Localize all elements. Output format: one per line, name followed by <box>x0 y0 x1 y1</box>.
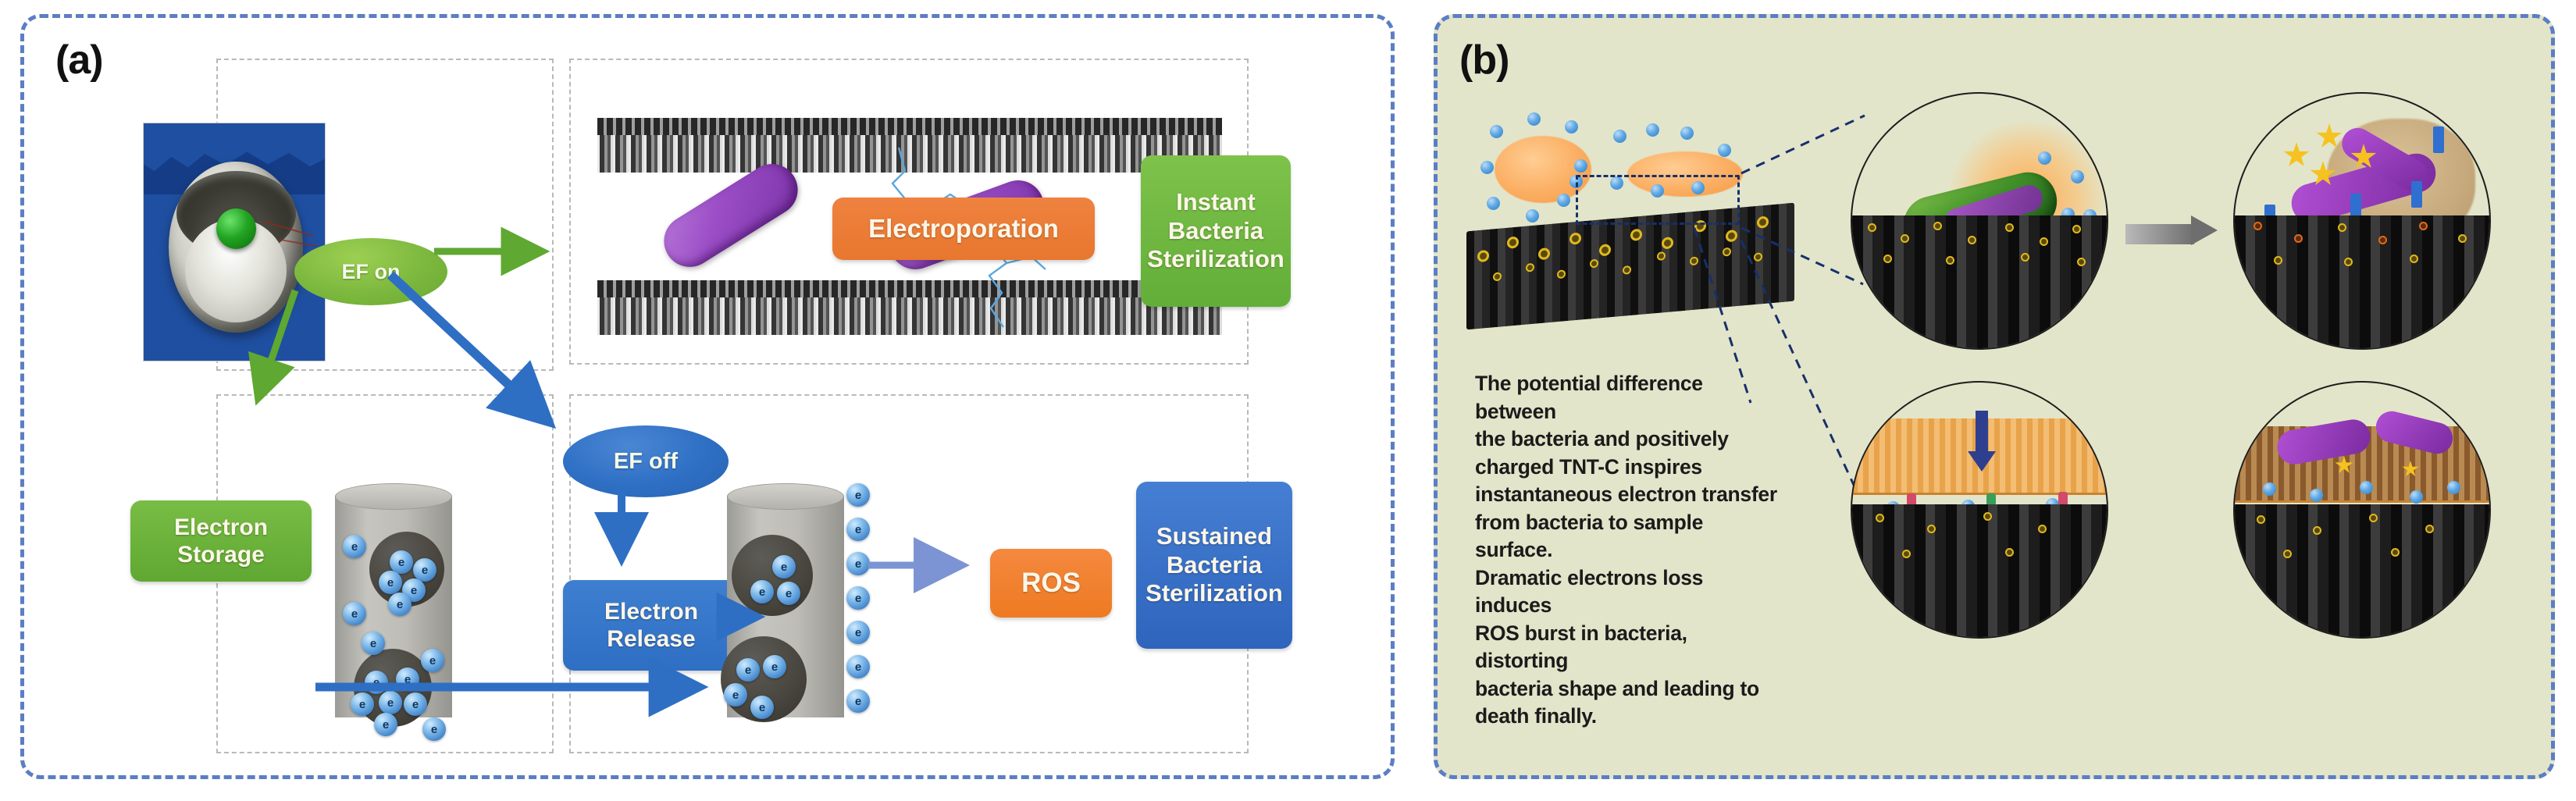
electron-dot <box>1680 126 1694 140</box>
nanotube-array-bottom <box>597 280 1222 335</box>
panel-b-caption: The potential difference betweenthe bact… <box>1475 370 1781 731</box>
electron-particle: e <box>351 692 374 716</box>
cylinder-top-ellipse <box>727 483 844 510</box>
electron-particle: e <box>343 602 366 625</box>
electron-storage-cylinder: e e e e e e e e e e e e e e e e <box>335 483 452 717</box>
nanotube-ground <box>1852 215 2107 348</box>
electron-particle: e <box>421 649 444 672</box>
electron-storage-line-2: Storage <box>177 541 265 568</box>
nanotube-ground <box>2235 504 2489 637</box>
electron-particle: e <box>404 692 427 716</box>
nanotube-sem-image <box>143 123 326 361</box>
electron-particle: e <box>846 689 870 713</box>
bacterium-intact <box>654 155 807 277</box>
electron-particle: e <box>846 483 870 507</box>
inset-bacteria-death <box>2233 381 2491 639</box>
electron-dot <box>1613 130 1626 143</box>
electron-particle: e <box>724 683 747 707</box>
nanotube-ground <box>2235 215 2489 348</box>
zoom-region-rect <box>1576 175 1740 225</box>
inset-electron-transfer <box>1851 92 2108 350</box>
electron-dot <box>2447 481 2460 494</box>
membrane-arrow-head <box>1968 451 1996 472</box>
instant-line-3: Sterilization <box>1147 245 1284 274</box>
nanotube-ground <box>1852 504 2107 637</box>
green-sphere-icon <box>216 208 256 249</box>
electron-dot <box>2071 170 2084 183</box>
electron-particle: e <box>396 667 419 691</box>
electron-particle: e <box>846 518 870 541</box>
electron-particle: e <box>750 580 774 603</box>
sustained-line-2: Bacteria <box>1167 551 1262 580</box>
process-arrow <box>2125 220 2221 240</box>
electron-release-node[interactable]: Electron Release <box>563 580 739 671</box>
sustained-line-1: Sustained <box>1156 522 1272 551</box>
nanotube-array-top <box>597 118 1222 173</box>
electron-particle: e <box>374 713 397 736</box>
electron-release-line-1: Electron <box>604 598 698 625</box>
caption-line-2: the bacteria and positively <box>1475 425 1781 454</box>
electron-dot <box>1565 120 1578 133</box>
blue-ion-marker <box>2411 181 2422 208</box>
electron-particle: e <box>750 696 774 719</box>
caption-line-9: death finally. <box>1475 703 1781 731</box>
ros-node[interactable]: ROS <box>990 549 1112 618</box>
electron-dot <box>2410 490 2423 504</box>
electron-release-cylinder: e e e e e e e <box>727 483 844 717</box>
caption-line-6: Dramatic electrons loss induces <box>1475 564 1781 620</box>
instant-line-2: Bacteria <box>1168 217 1263 246</box>
sustained-sterilization-node[interactable]: Sustained Bacteria Sterilization <box>1136 482 1292 649</box>
electron-particle: e <box>777 582 800 605</box>
electron-particle: e <box>846 655 870 678</box>
caption-line-5: from bacteria to sample surface. <box>1475 509 1781 564</box>
electron-particle: e <box>736 658 760 682</box>
electron-dot <box>2038 151 2051 165</box>
caption-line-3: charged TNT-C inspires <box>1475 454 1781 482</box>
electron-dot <box>1646 123 1659 137</box>
cylinder-top-ellipse <box>335 483 452 510</box>
electron-particle: e <box>763 655 786 678</box>
electron-dot <box>1718 144 1731 157</box>
caption-line-4: instantaneous electron transfer <box>1475 481 1781 509</box>
ef-on-node[interactable]: EF on <box>294 238 447 305</box>
electron-dot <box>2310 489 2323 502</box>
electron-dot <box>2360 481 2373 494</box>
electron-dot <box>1527 112 1541 126</box>
electron-particle: e <box>388 593 412 616</box>
electron-particle: e <box>846 586 870 610</box>
electron-particle: e <box>362 632 385 655</box>
electroporation-node[interactable]: Electroporation <box>832 198 1095 260</box>
panel-b-label: (b) <box>1459 37 1509 84</box>
panel-a-label: (a) <box>55 37 103 84</box>
electron-dot <box>1557 194 1570 207</box>
membrane-arrow-icon <box>1976 411 1988 454</box>
inset-ros-burst <box>2233 92 2491 350</box>
electron-dot <box>1574 159 1587 173</box>
electron-particle: e <box>343 535 366 558</box>
electron-dot <box>1480 161 1494 174</box>
electron-dot <box>1490 125 1503 138</box>
blue-ion-marker <box>2433 126 2444 153</box>
caption-line-8: bacteria shape and leading to <box>1475 675 1781 703</box>
caption-line-7: ROS burst in bacteria, distorting <box>1475 620 1781 675</box>
electron-particle: e <box>422 717 446 741</box>
sustained-line-3: Sterilization <box>1145 579 1283 608</box>
ef-off-node[interactable]: EF off <box>563 425 729 497</box>
electron-dot <box>1487 197 1500 210</box>
electron-dot <box>1526 209 1539 222</box>
electron-dot <box>2263 482 2276 496</box>
electron-storage-line-1: Electron <box>174 514 268 541</box>
electron-particle: e <box>846 552 870 575</box>
caption-line-1: The potential difference between <box>1475 370 1781 425</box>
electron-release-line-2: Release <box>607 625 695 653</box>
electron-particle: e <box>365 671 388 694</box>
panel-a: (a) EF on EF off <box>20 14 1395 779</box>
nanopore-upper <box>732 535 813 616</box>
instant-line-1: Instant <box>1176 188 1256 217</box>
electron-particle: e <box>846 621 870 644</box>
ros-burst-icon <box>2283 142 2310 169</box>
inset-membrane-electron-loss <box>1851 381 2108 639</box>
electron-particle: e <box>772 555 796 578</box>
electron-particle: e <box>379 571 402 594</box>
instant-sterilization-node[interactable]: Instant Bacteria Sterilization <box>1141 155 1291 307</box>
electron-particle: e <box>379 691 402 714</box>
electron-storage-node[interactable]: Electron Storage <box>130 500 312 582</box>
